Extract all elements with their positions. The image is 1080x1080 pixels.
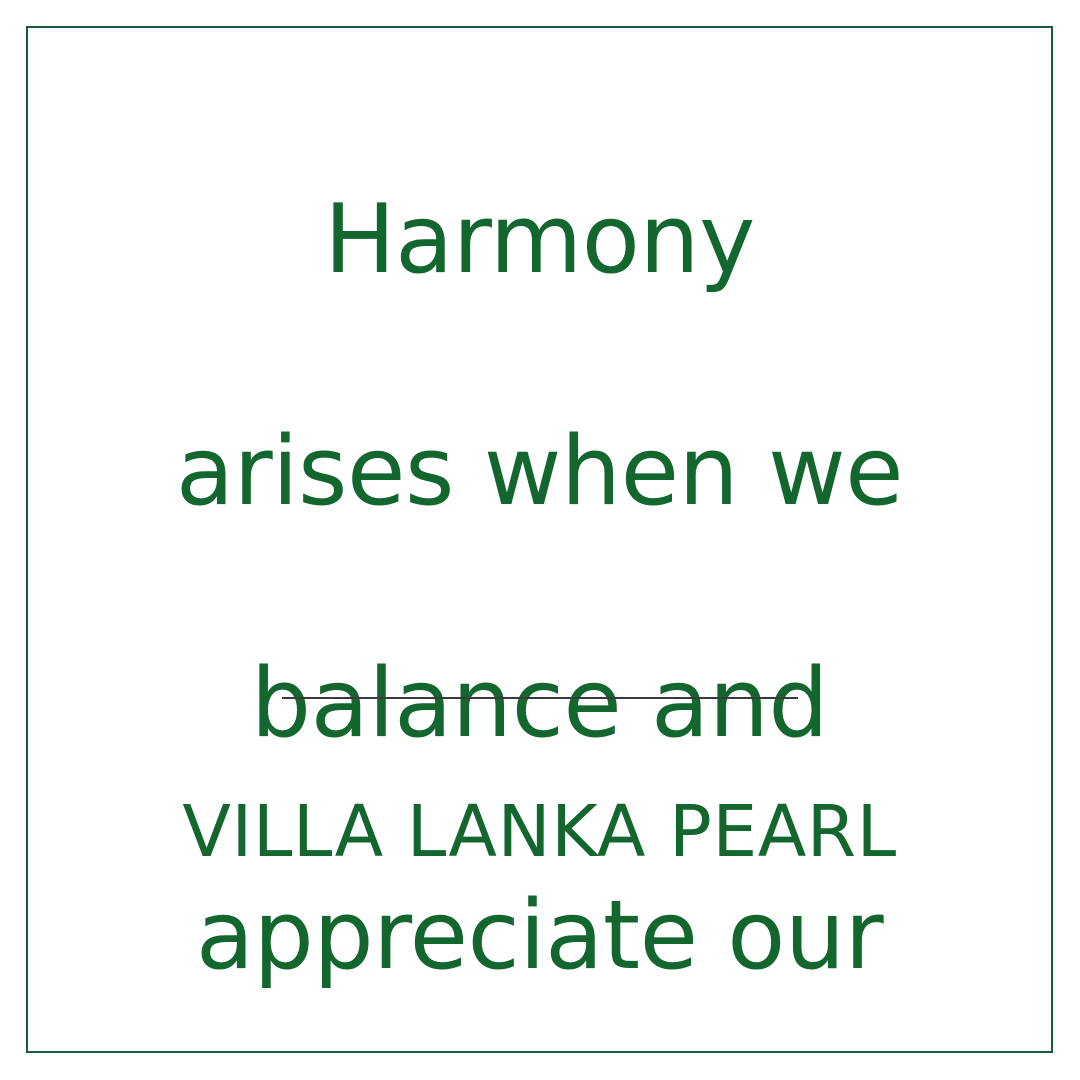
quote-line-1: Harmony <box>26 182 1053 298</box>
quote-text: Harmony arises when we balance and appre… <box>26 66 1053 1080</box>
quote-line-2: arises when we <box>26 414 1053 530</box>
quote-line-4: appreciate our <box>26 878 1053 994</box>
card-content: Harmony arises when we balance and appre… <box>26 26 1053 1053</box>
horizontal-rule-divider <box>282 697 798 699</box>
quote-card: Harmony arises when we balance and appre… <box>0 0 1080 1080</box>
divider-container <box>26 697 1053 699</box>
quote-line-3: balance and <box>26 646 1053 762</box>
attribution-name: VILLA LANKA PEARL <box>26 790 1053 874</box>
